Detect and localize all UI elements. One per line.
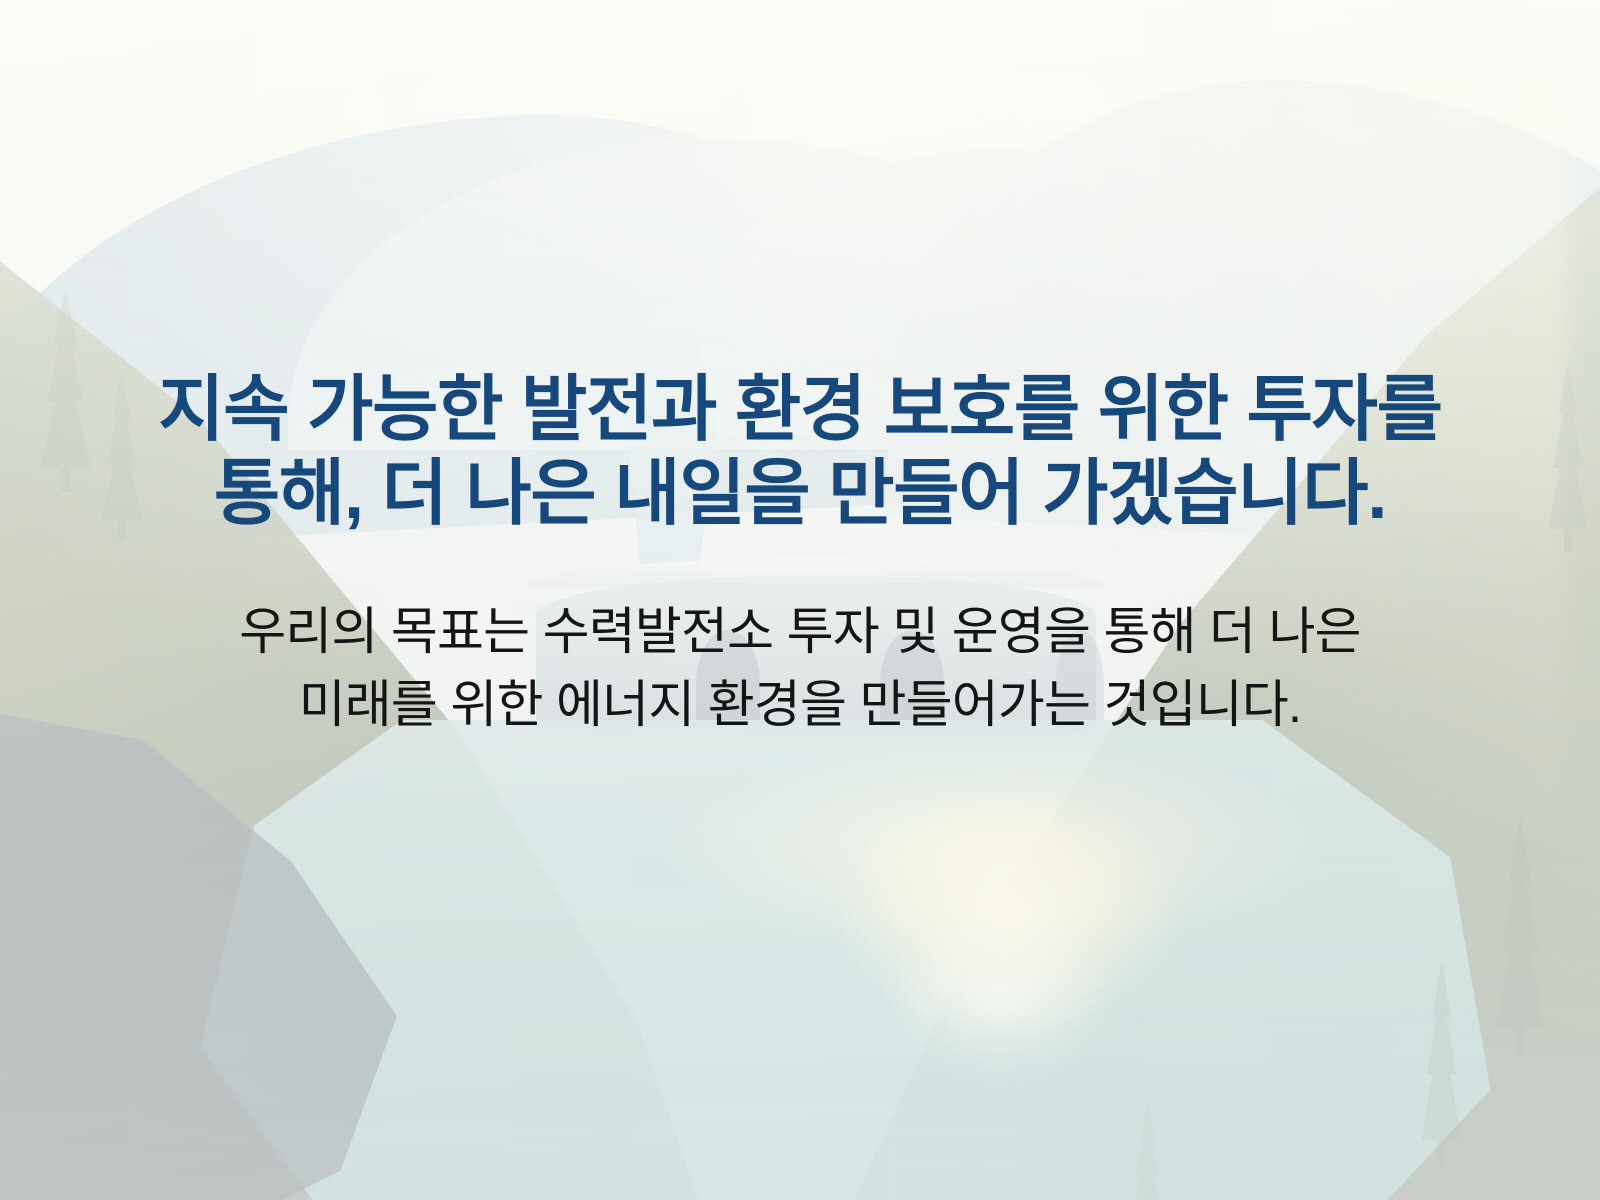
slide-subtext: 우리의 목표는 수력발전소 투자 및 운영을 통해 더 나은 미래를 위한 에너… <box>70 596 1530 741</box>
slide-text-block: 지속 가능한 발전과 환경 보호를 위한 투자를 통해, 더 나은 내일을 만들… <box>0 0 1600 1200</box>
slide-headline: 지속 가능한 발전과 환경 보호를 위한 투자를 통해, 더 나은 내일을 만들… <box>70 368 1530 536</box>
presentation-slide: 지속 가능한 발전과 환경 보호를 위한 투자를 통해, 더 나은 내일을 만들… <box>0 0 1600 1200</box>
